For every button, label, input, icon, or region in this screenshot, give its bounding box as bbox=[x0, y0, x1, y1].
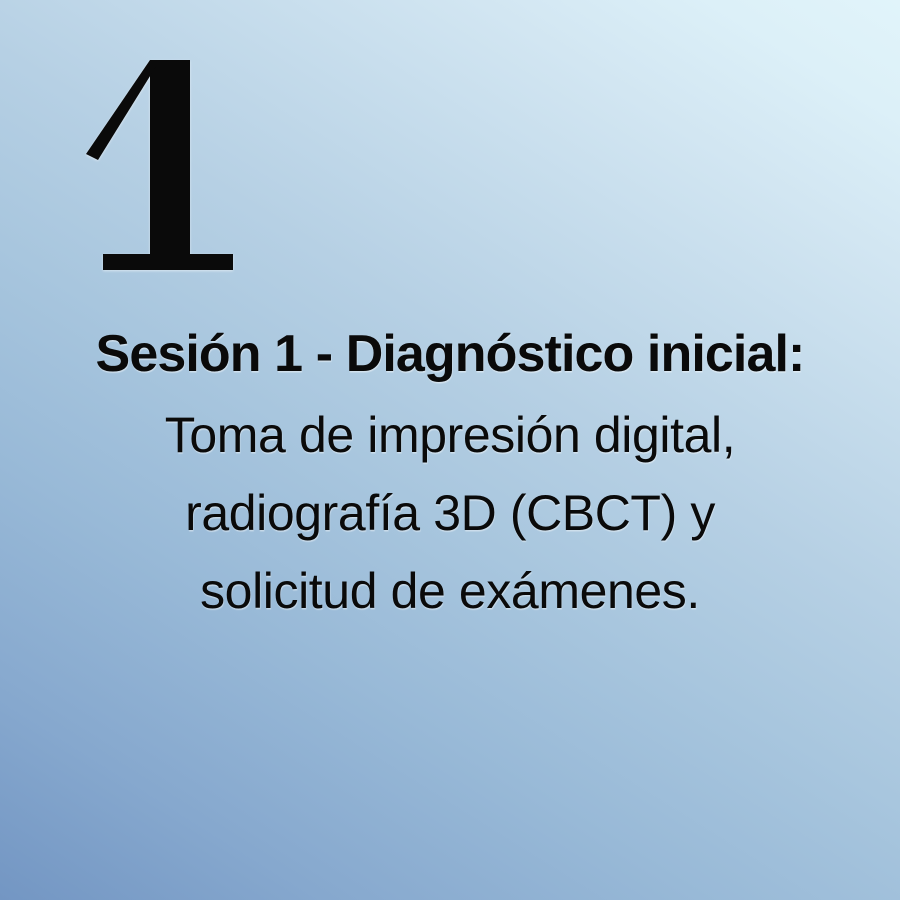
slide-body-line-1: Toma de impresión digital, bbox=[0, 396, 900, 474]
step-number-value: 1 bbox=[0, 18, 1, 19]
slide-canvas: 1 Sesión 1 - Diagnóstico inicial: Toma d… bbox=[0, 0, 900, 900]
slide-body: Toma de impresión digital, radiografía 3… bbox=[0, 396, 900, 630]
slide-heading: Sesión 1 - Diagnóstico inicial: bbox=[0, 318, 900, 390]
step-number-block: 1 bbox=[0, 18, 900, 294]
slide-text-block: Sesión 1 - Diagnóstico inicial: Toma de … bbox=[0, 318, 900, 630]
numeral-one-icon bbox=[68, 18, 258, 294]
slide-body-line-2: radiografía 3D (CBCT) y bbox=[0, 474, 900, 552]
slide-body-line-3: solicitud de exámenes. bbox=[0, 552, 900, 630]
